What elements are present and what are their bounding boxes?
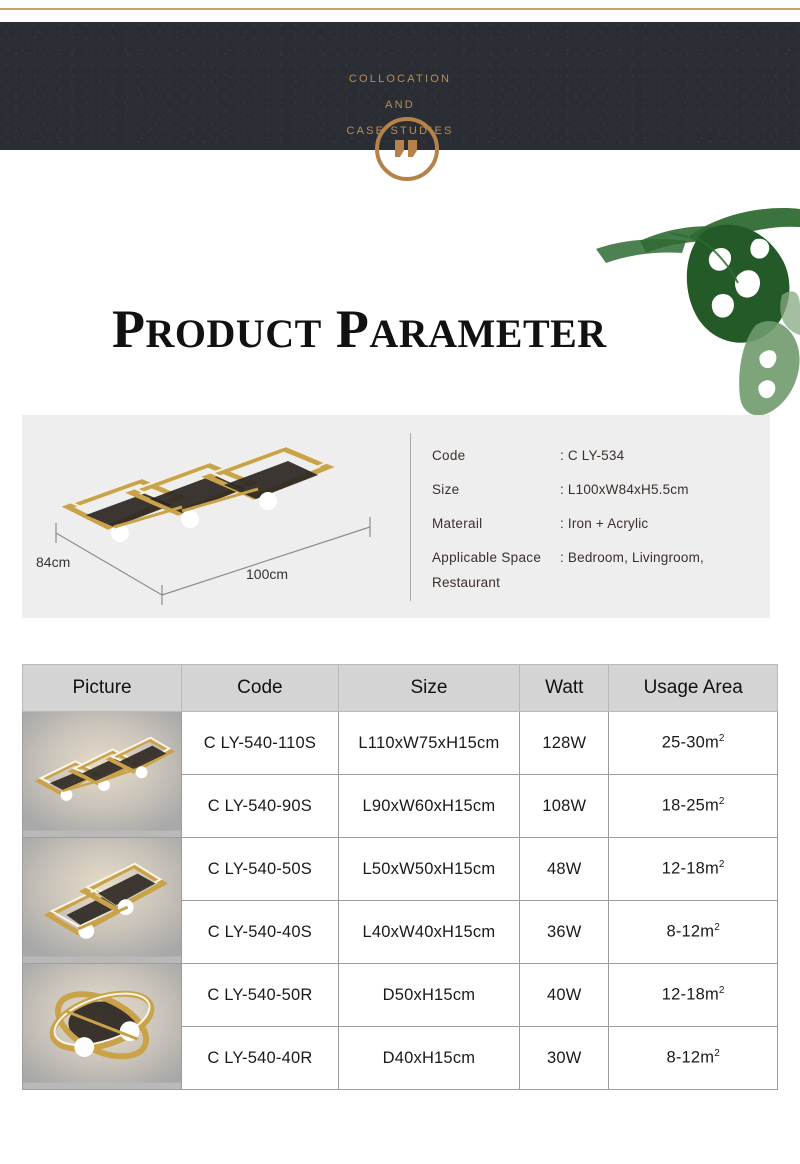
cell-usage-area: 8-12m2: [609, 1027, 778, 1090]
product-photo-round-ring-lamp: [23, 964, 182, 1090]
spec-row-code: Code : C LY-534: [432, 447, 762, 464]
table-header-code: Code: [182, 665, 339, 712]
banner-line-2: AND: [0, 92, 800, 118]
table-header-picture: Picture: [23, 665, 182, 712]
cell-code: C LY-540-90S: [182, 775, 339, 838]
usage-area-value: 8-12m: [666, 923, 714, 941]
usage-area-value: 18-25m: [662, 797, 719, 815]
cell-watt: 40W: [520, 964, 609, 1027]
product-spec-panel: 84cm 100cm Code : C LY-534 Size : L100xW…: [22, 415, 770, 618]
spec-value-code: : C LY-534: [560, 447, 762, 464]
cell-usage-area: 25-30m2: [609, 712, 778, 775]
spec-value-applicable-space: : Bedroom, Livingroom,: [560, 549, 762, 566]
usage-area-unit-exponent: 2: [719, 796, 725, 807]
usage-area-value: 12-18m: [662, 860, 719, 878]
cell-code: C LY-540-40R: [182, 1027, 339, 1090]
product-photo-three-panel-lamp: [23, 712, 182, 838]
cell-size: L50xW50xH15cm: [338, 838, 519, 901]
cell-size: L90xW60xH15cm: [338, 775, 519, 838]
page-title: PRODUCT PARAMETER: [112, 298, 607, 360]
cell-size: D50xH15cm: [338, 964, 519, 1027]
page-title-text: PRODUCT PARAMETER: [112, 299, 607, 359]
usage-area-unit-exponent: 2: [719, 985, 725, 996]
usage-area-unit-exponent: 2: [714, 922, 720, 933]
usage-area-unit-exponent: 2: [719, 859, 725, 870]
cell-code: C LY-540-40S: [182, 901, 339, 964]
spec-row-size: Size : L100xW84xH5.5cm: [432, 481, 762, 498]
table-header-usage-area: Usage Area: [609, 665, 778, 712]
usage-area-value: 25-30m: [662, 734, 719, 752]
usage-area-unit-exponent: 2: [719, 733, 725, 744]
product-dimension-diagram: 84cm 100cm: [22, 415, 410, 618]
quote-mark-icon: [375, 117, 439, 181]
spec-value-applicable-space-continued: Restaurant: [432, 575, 762, 590]
table-row: C LY-540-50S L50xW50xH15cm 48W 12-18m2: [23, 838, 778, 901]
table-header-size: Size: [338, 665, 519, 712]
spec-panel-divider: [410, 433, 411, 601]
table-header-watt: Watt: [520, 665, 609, 712]
usage-area-value: 12-18m: [662, 986, 719, 1004]
cell-usage-area: 12-18m2: [609, 838, 778, 901]
spec-value-material: : Iron + Acrylic: [560, 515, 762, 532]
cell-size: D40xH15cm: [338, 1027, 519, 1090]
spec-key-material: Materail: [432, 515, 560, 532]
table-header-row: Picture Code Size Watt Usage Area: [23, 665, 778, 712]
table-row: C LY-540-50R D50xH15cm 40W 12-18m2: [23, 964, 778, 1027]
spec-row-applicable-space: Applicable Space : Bedroom, Livingroom,: [432, 549, 762, 566]
cell-size: L40xW40xH15cm: [338, 901, 519, 964]
cell-size: L110xW75xH15cm: [338, 712, 519, 775]
cell-usage-area: 18-25m2: [609, 775, 778, 838]
cell-watt: 108W: [520, 775, 609, 838]
banner-line-1: COLLOCATION: [0, 66, 800, 92]
spec-row-material: Materail : Iron + Acrylic: [432, 515, 762, 532]
spec-key-size: Size: [432, 481, 560, 498]
cell-code: C LY-540-110S: [182, 712, 339, 775]
quote-glyph: [394, 140, 420, 158]
product-variants-table: Picture Code Size Watt Usage Area: [22, 664, 778, 1090]
product-photo-two-panel-lamp: [23, 838, 182, 964]
spec-value-size: : L100xW84xH5.5cm: [560, 481, 762, 498]
cell-usage-area: 12-18m2: [609, 964, 778, 1027]
spec-key-code: Code: [432, 447, 560, 464]
spec-list: Code : C LY-534 Size : L100xW84xH5.5cm M…: [432, 447, 762, 590]
table-row: C LY-540-110S L110xW75xH15cm 128W 25-30m…: [23, 712, 778, 775]
usage-area-unit-exponent: 2: [714, 1048, 720, 1059]
cell-watt: 48W: [520, 838, 609, 901]
usage-area-value: 8-12m: [666, 1049, 714, 1067]
cell-watt: 30W: [520, 1027, 609, 1090]
cell-usage-area: 8-12m2: [609, 901, 778, 964]
cell-watt: 128W: [520, 712, 609, 775]
svg-text:100cm: 100cm: [246, 566, 288, 582]
spec-key-applicable-space: Applicable Space: [432, 549, 560, 566]
top-gold-rule: [0, 8, 800, 10]
svg-text:84cm: 84cm: [36, 554, 70, 570]
cell-watt: 36W: [520, 901, 609, 964]
cell-code: C LY-540-50R: [182, 964, 339, 1027]
cell-code: C LY-540-50S: [182, 838, 339, 901]
